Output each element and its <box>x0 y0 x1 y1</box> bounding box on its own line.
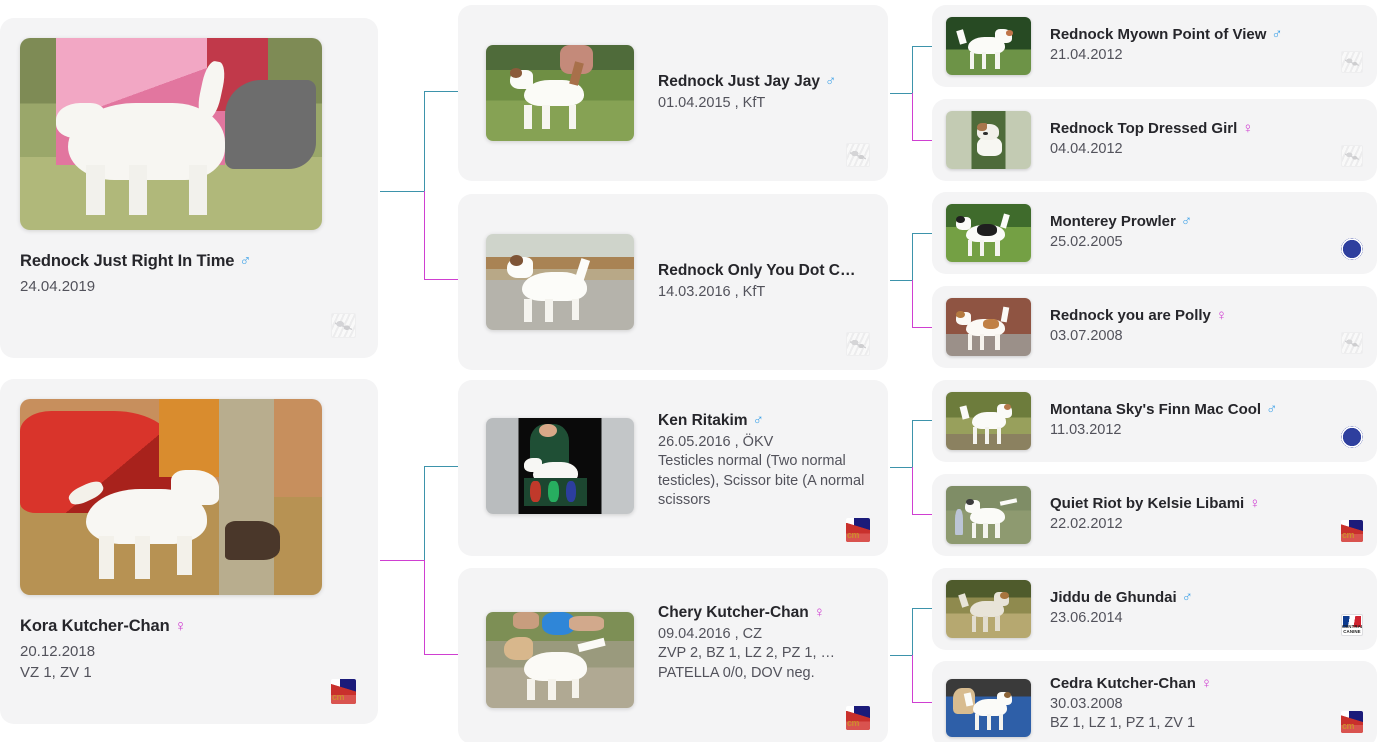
card-text: Rednock you are Polly♀ 03.07.2008 <box>1050 307 1363 346</box>
sex-icon-male: ♂ <box>825 73 836 90</box>
kft-badge-icon <box>331 313 356 338</box>
kft-badge-icon <box>846 143 870 167</box>
card-text: Ken Ritakim♂ 26.05.2016 , ÖKV Testicles … <box>658 412 872 510</box>
cmku-badge-icon: cm <box>1341 711 1363 733</box>
pedigree-card-gen1-1[interactable]: Rednock Only You Dot C… 14.03.2016 , KfT <box>458 194 888 370</box>
dog-photo[interactable] <box>486 612 634 708</box>
card-text: Rednock Myown Point of View♂ 21.04.2012 <box>1050 26 1363 65</box>
dog-photo[interactable] <box>486 418 634 514</box>
dog-name: Kora Kutcher-Chan♀ <box>20 617 358 636</box>
pedigree-chart: Rednock Just Right In Time♂ 24.04.2019 K… <box>0 0 1377 742</box>
sex-icon-male: ♂ <box>1181 213 1192 230</box>
akc-badge-icon <box>1341 426 1363 448</box>
sex-icon-female: ♀ <box>1249 495 1260 512</box>
dog-name: Quiet Riot by Kelsie Libami♀ <box>1050 495 1363 512</box>
dog-date: 09.04.2016 , CZ <box>658 625 872 644</box>
pedigree-card-gen1-3[interactable]: Chery Kutcher-Chan♀ 09.04.2016 , CZ ZVP … <box>458 568 888 742</box>
dog-date: 01.04.2015 , KfT <box>658 94 872 113</box>
pedigree-card-gen2-3[interactable]: Rednock you are Polly♀ 03.07.2008 <box>932 286 1377 368</box>
sex-icon-male: ♂ <box>1266 401 1277 418</box>
dog-photo[interactable] <box>20 38 322 230</box>
card-text: Kora Kutcher-Chan♀ 20.12.2018 VZ 1, ZV 1 <box>20 617 358 684</box>
dog-photo[interactable] <box>946 111 1031 169</box>
dog-date: 30.03.2008 <box>1050 695 1363 714</box>
connector-gen0b <box>380 0 460 742</box>
kft-badge-icon <box>846 332 870 356</box>
dog-photo[interactable] <box>946 679 1031 737</box>
dog-date: 22.02.2012 <box>1050 515 1363 534</box>
dog-name: Rednock Only You Dot C… <box>658 262 872 280</box>
pedigree-card-gen1-2[interactable]: Ken Ritakim♂ 26.05.2016 , ÖKV Testicles … <box>458 380 888 556</box>
centrale-canine-badge-icon: CENTRALE CANINE <box>1341 614 1363 636</box>
dog-name: Cedra Kutcher-Chan♀ <box>1050 675 1363 692</box>
dog-photo[interactable] <box>946 486 1031 544</box>
dog-photo[interactable] <box>946 392 1031 450</box>
dog-date: 11.03.2012 <box>1050 421 1363 440</box>
dog-photo[interactable] <box>946 580 1031 638</box>
dog-name: Rednock Just Right In Time♂ <box>20 252 358 271</box>
dog-name: Rednock Just Jay Jay♂ <box>658 73 872 91</box>
cmku-badge-icon: cm <box>331 679 356 704</box>
card-text: Quiet Riot by Kelsie Libami♀ 22.02.2012 <box>1050 495 1363 534</box>
pedigree-card-gen2-2[interactable]: Monterey Prowler♂ 25.02.2005 <box>932 192 1377 274</box>
dog-date: 26.05.2016 , ÖKV <box>658 433 872 452</box>
pedigree-card-gen0-0[interactable]: Rednock Just Right In Time♂ 24.04.2019 <box>0 18 378 358</box>
cmku-badge-icon: cm <box>846 706 870 730</box>
sex-icon-male: ♂ <box>753 412 764 429</box>
dog-date: 03.07.2008 <box>1050 327 1363 346</box>
card-text: Rednock Top Dressed Girl♀ 04.04.2012 <box>1050 120 1363 159</box>
card-text: Rednock Just Jay Jay♂ 01.04.2015 , KfT <box>658 73 872 113</box>
pedigree-card-gen2-5[interactable]: Quiet Riot by Kelsie Libami♀ 22.02.2012 … <box>932 474 1377 556</box>
dog-name: Monterey Prowler♂ <box>1050 213 1363 230</box>
card-text: Jiddu de Ghundai♂ 23.06.2014 <box>1050 589 1363 628</box>
dog-extra: BZ 1, LZ 1, PZ 1, ZV 1 <box>1050 714 1363 733</box>
pedigree-card-gen1-0[interactable]: Rednock Just Jay Jay♂ 01.04.2015 , KfT <box>458 5 888 181</box>
dog-name: Montana Sky's Finn Mac Cool♂ <box>1050 401 1363 418</box>
dog-name: Rednock you are Polly♀ <box>1050 307 1363 324</box>
dog-name: Rednock Myown Point of View♂ <box>1050 26 1363 43</box>
dog-photo[interactable] <box>20 399 322 595</box>
pedigree-card-gen2-1[interactable]: Rednock Top Dressed Girl♀ 04.04.2012 <box>932 99 1377 181</box>
kft-badge-icon <box>1341 145 1363 167</box>
card-text: Monterey Prowler♂ 25.02.2005 <box>1050 213 1363 252</box>
dog-extra: Testicles normal (Two normal testicles),… <box>658 452 872 510</box>
sex-icon-male: ♂ <box>1182 589 1193 606</box>
dog-name: Chery Kutcher-Chan♀ <box>658 604 872 622</box>
dog-photo[interactable] <box>486 45 634 141</box>
dog-date: 04.04.2012 <box>1050 140 1363 159</box>
sex-icon-female: ♀ <box>814 604 825 621</box>
dog-date: 24.04.2019 <box>20 276 358 297</box>
sex-icon-female: ♀ <box>1216 307 1227 324</box>
pedigree-card-gen2-0[interactable]: Rednock Myown Point of View♂ 21.04.2012 <box>932 5 1377 87</box>
akc-badge-icon <box>1341 238 1363 260</box>
dog-name: Ken Ritakim♂ <box>658 412 872 430</box>
dog-photo[interactable] <box>946 204 1031 262</box>
card-text: Rednock Only You Dot C… 14.03.2016 , KfT <box>658 262 872 302</box>
cmku-badge-icon: cm <box>1341 520 1363 542</box>
dog-date: 25.02.2005 <box>1050 233 1363 252</box>
sex-icon-male: ♂ <box>239 253 251 270</box>
dog-photo[interactable] <box>486 234 634 330</box>
card-text: Montana Sky's Finn Mac Cool♂ 11.03.2012 <box>1050 401 1363 440</box>
dog-date: 23.06.2014 <box>1050 609 1363 628</box>
sex-icon-female: ♀ <box>1242 120 1253 137</box>
dog-name: Rednock Top Dressed Girl♀ <box>1050 120 1363 137</box>
pedigree-card-gen2-7[interactable]: Cedra Kutcher-Chan♀ 30.03.2008 BZ 1, LZ … <box>932 661 1377 742</box>
kft-badge-icon <box>1341 51 1363 73</box>
dog-photo[interactable] <box>946 298 1031 356</box>
dog-date: 14.03.2016 , KfT <box>658 283 872 302</box>
sex-icon-male: ♂ <box>1271 26 1282 43</box>
sex-icon-female: ♀ <box>175 618 187 635</box>
pedigree-card-gen2-4[interactable]: Montana Sky's Finn Mac Cool♂ 11.03.2012 <box>932 380 1377 462</box>
card-text: Rednock Just Right In Time♂ 24.04.2019 <box>20 252 358 297</box>
dog-date: 21.04.2012 <box>1050 46 1363 65</box>
pedigree-card-gen2-6[interactable]: Jiddu de Ghundai♂ 23.06.2014 CENTRALE CA… <box>932 568 1377 650</box>
connector-gen1-m3 <box>890 0 938 742</box>
sex-icon-female: ♀ <box>1201 675 1212 692</box>
dog-date: 20.12.2018 <box>20 641 358 662</box>
pedigree-card-gen0-1[interactable]: Kora Kutcher-Chan♀ 20.12.2018 VZ 1, ZV 1… <box>0 379 378 724</box>
dog-extra: ZVP 2, BZ 1, LZ 2, PZ 1, … PATELLA 0/0, … <box>658 644 872 683</box>
dog-name: Jiddu de Ghundai♂ <box>1050 589 1363 606</box>
dog-photo[interactable] <box>946 17 1031 75</box>
cmku-badge-icon: cm <box>846 518 870 542</box>
card-text: Chery Kutcher-Chan♀ 09.04.2016 , CZ ZVP … <box>658 604 872 683</box>
kft-badge-icon <box>1341 332 1363 354</box>
dog-extra: VZ 1, ZV 1 <box>20 662 358 683</box>
card-text: Cedra Kutcher-Chan♀ 30.03.2008 BZ 1, LZ … <box>1050 675 1363 734</box>
